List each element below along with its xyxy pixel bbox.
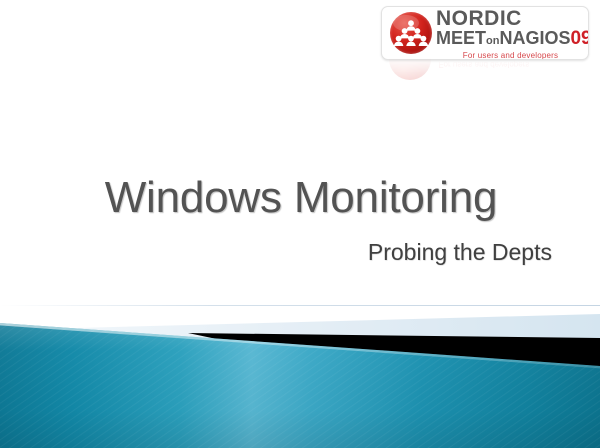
logo-reflection-tagline: For users and developers bbox=[381, 60, 587, 69]
logo-reflection: For users and developers bbox=[381, 58, 587, 80]
logo-nagios-text: NAGIOS bbox=[499, 28, 570, 48]
logo-meet-on-nagios-text: MEETonNAGIOS09 bbox=[436, 29, 585, 50]
logo-year-text: 09 bbox=[570, 28, 589, 49]
logo-meet-text: MEET bbox=[436, 28, 486, 48]
logo-reflection-badge bbox=[389, 58, 431, 80]
logo-on-text: on bbox=[486, 35, 499, 47]
slide-title: Windows Monitoring bbox=[50, 172, 552, 224]
flow-theme-wave-decoration bbox=[0, 0, 600, 448]
nordic-meet-on-nagios-logo: NORDIC MEETonNAGIOS09 For users and deve… bbox=[381, 6, 589, 60]
teal-band-shading bbox=[0, 323, 600, 448]
slide-subtitle: Probing the Depts bbox=[52, 238, 552, 266]
upper-hairline-divider bbox=[0, 305, 600, 306]
black-band bbox=[188, 333, 600, 372]
teal-band-texture bbox=[0, 323, 600, 448]
logo-nordic-text: NORDIC bbox=[436, 8, 585, 29]
logo-tagline: For users and developers bbox=[436, 51, 585, 60]
presentation-slide: NORDIC MEETonNAGIOS09 For users and deve… bbox=[0, 0, 600, 448]
teal-edge-highlight bbox=[0, 323, 600, 368]
teal-band bbox=[0, 323, 600, 448]
pale-blue-band bbox=[0, 314, 600, 352]
people-group-icon bbox=[390, 12, 432, 54]
